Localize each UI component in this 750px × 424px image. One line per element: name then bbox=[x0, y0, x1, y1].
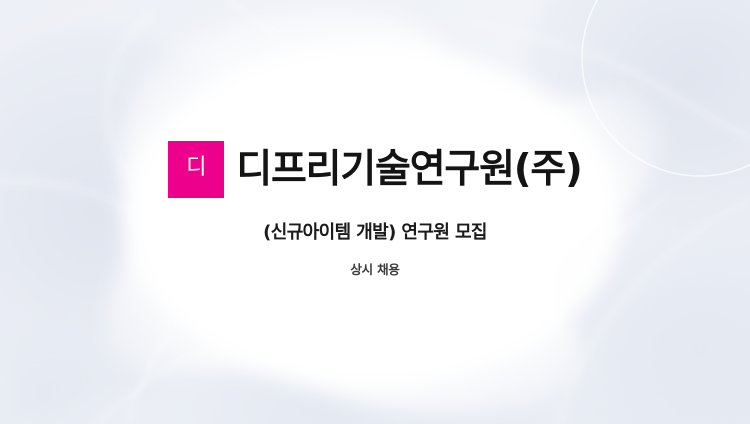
recruitment-status-text: 상시 채용 bbox=[350, 264, 399, 277]
job-posting-banner: 디 디프리기술연구원(주) (신규아이템 개발) 연구원 모집 상시 채용 bbox=[0, 0, 750, 424]
company-name: 디프리기술연구원(주) bbox=[236, 150, 581, 189]
logo-glyph-text: 디 bbox=[186, 157, 206, 179]
banner-content: 디 디프리기술연구원(주) (신규아이템 개발) 연구원 모집 상시 채용 bbox=[0, 0, 750, 424]
company-title-row: 디 디프리기술연구원(주) bbox=[168, 140, 581, 198]
job-position-subtitle: (신규아이템 개발) 연구원 모집 bbox=[263, 224, 487, 242]
company-initial-tile-icon: 디 bbox=[168, 141, 224, 198]
